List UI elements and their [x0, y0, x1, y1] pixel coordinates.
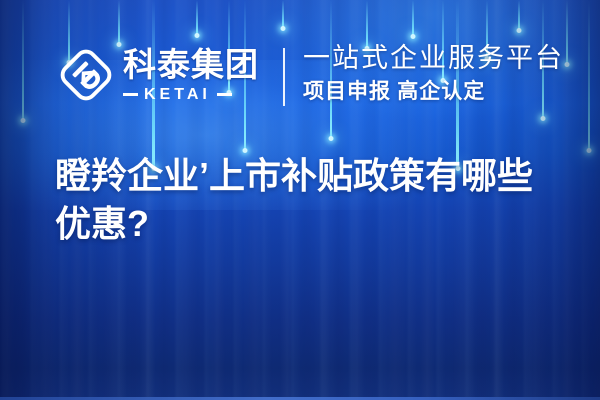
light-streak-dot-icon: [565, 62, 570, 67]
wordmark-dash-right: [217, 93, 232, 96]
headline-title: 瞪羚企业’上市补贴政策有哪些优惠?: [55, 152, 565, 248]
tagline-secondary: 项目申报 高企认定: [303, 80, 564, 103]
light-streak-dot-icon: [517, 28, 522, 33]
light-streak: [196, 0, 198, 35]
wordmark-dash-left: [123, 93, 138, 96]
light-streak: [412, 0, 414, 36]
light-streak-dot-icon: [411, 34, 416, 39]
brand-name-en: KETAI: [144, 87, 211, 103]
light-streak: [588, 0, 590, 150]
light-streak: [566, 0, 568, 64]
light-streak: [366, 0, 368, 48]
lockup-divider: [283, 48, 285, 106]
brand-name-en-row: KETAI: [123, 87, 259, 103]
light-streak-dot-icon: [21, 118, 26, 123]
light-streak-dot-icon: [195, 33, 200, 38]
light-streak: [22, 0, 24, 120]
brand-name-cn: 科泰集团: [123, 48, 259, 81]
light-streak: [518, 0, 520, 30]
light-streak-dot-icon: [541, 116, 546, 121]
light-streak-dot-icon: [281, 26, 286, 31]
light-streak-dot-icon: [329, 136, 334, 141]
ketai-diamond-kd-monogram-icon: [55, 44, 117, 106]
light-streak: [282, 0, 284, 28]
tagline-primary: 一站式企业服务平台: [303, 44, 564, 74]
brand-wordmark: 科泰集团 KETAI: [123, 48, 259, 103]
logo-lockup[interactable]: 科泰集团 KETAI: [55, 44, 259, 106]
light-streak: [118, 0, 120, 44]
tagline-block: 一站式企业服务平台 项目申报 高企认定: [303, 44, 564, 103]
light-streak-dot-icon: [587, 148, 592, 153]
promo-banner: 科泰集团 KETAI 一站式企业服务平台 项目申报 高企认定 瞪羚企业’上市补贴…: [0, 0, 600, 400]
